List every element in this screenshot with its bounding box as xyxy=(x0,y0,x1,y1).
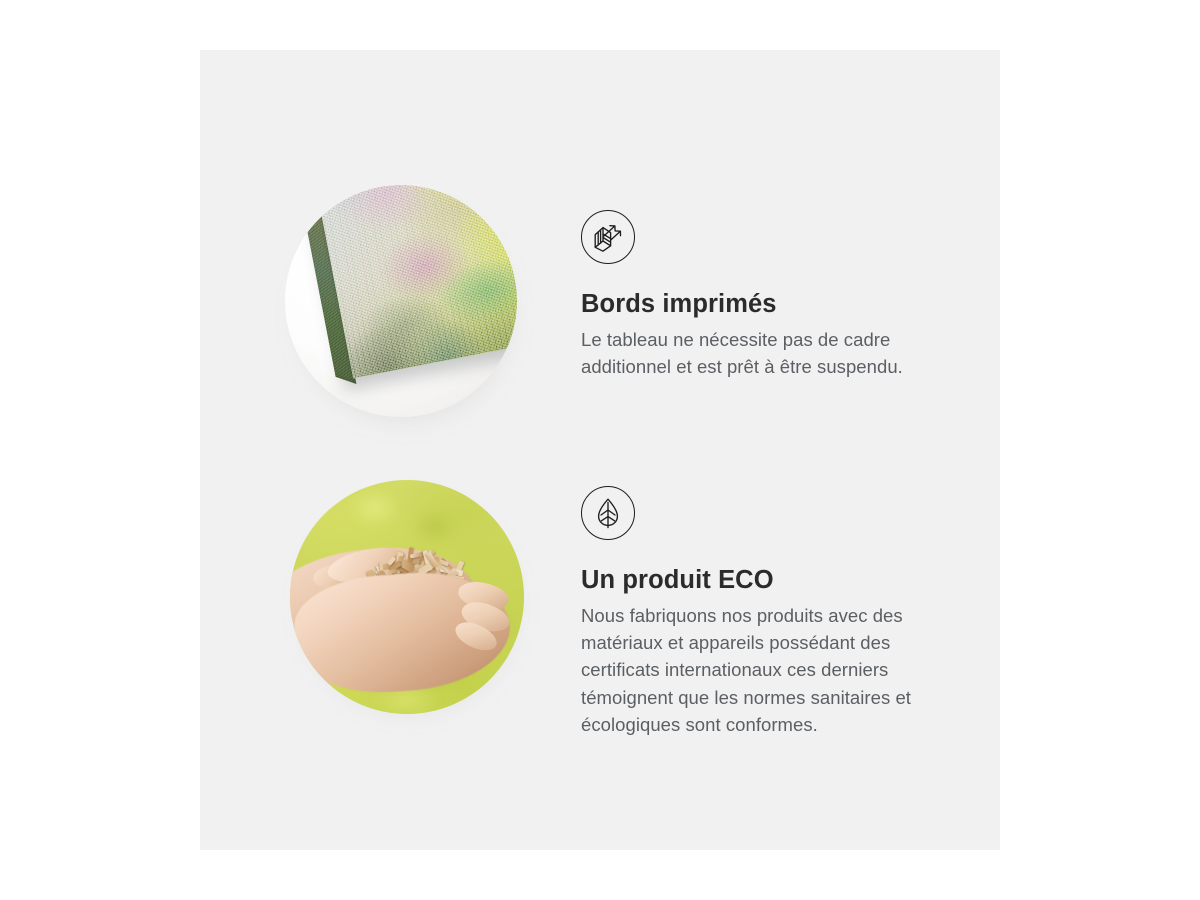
feature-body: Le tableau ne nécessite pas de cadre add… xyxy=(581,326,941,380)
feature-heading: Un produit ECO xyxy=(581,566,941,594)
feature-heading: Bords imprimés xyxy=(581,290,941,318)
printed-canvas-photo xyxy=(285,185,545,445)
hands-holding-wood-chips-photo xyxy=(290,480,535,725)
content-panel: Bords imprimés Le tableau ne nécessite p… xyxy=(200,50,1000,850)
canvas-block xyxy=(312,185,517,378)
feature-printed-edges: Bords imprimés Le tableau ne nécessite p… xyxy=(200,50,1000,450)
leaf-icon xyxy=(581,486,635,540)
photo-circle xyxy=(290,480,524,714)
eco-product-text: Un produit ECO Nous fabriquons nos produ… xyxy=(581,486,941,738)
printed-edges-text: Bords imprimés Le tableau ne nécessite p… xyxy=(581,210,941,380)
white-disc xyxy=(285,185,517,417)
wrapped-canvas-edges-icon xyxy=(581,210,635,264)
product-info-graphic: Bords imprimés Le tableau ne nécessite p… xyxy=(0,0,1200,900)
feature-body: Nous fabriquons nos produits avec des ma… xyxy=(581,602,941,738)
canvas-bottom-band xyxy=(335,243,517,379)
feature-eco-product: Un produit ECO Nous fabriquons nos produ… xyxy=(200,450,1000,850)
